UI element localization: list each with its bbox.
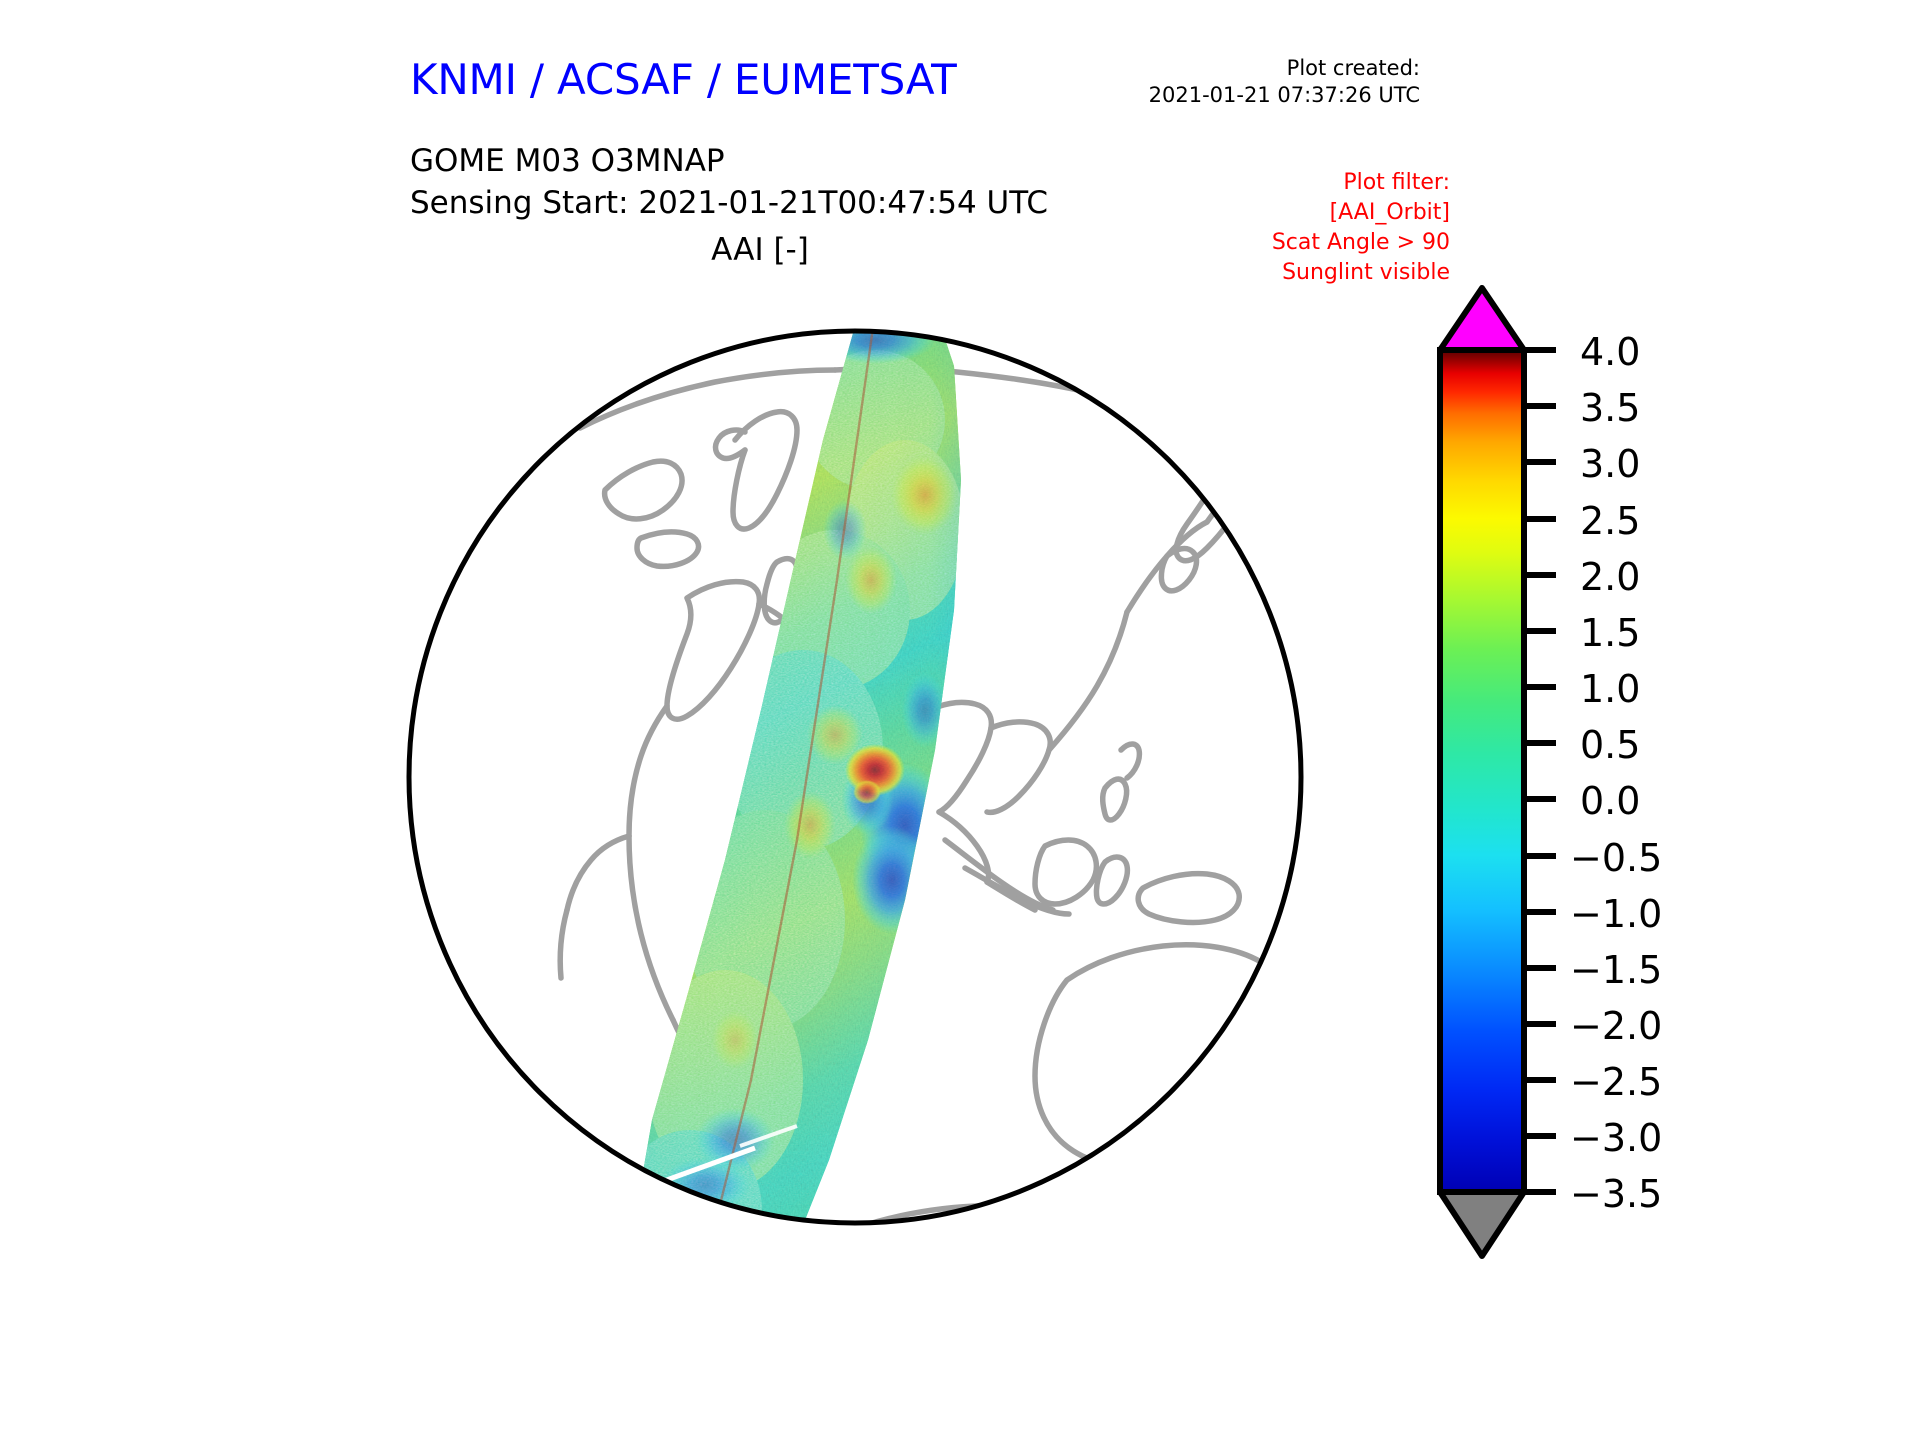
cb-label-15: −3.5 — [1570, 1172, 1662, 1216]
sensing-start: Sensing Start: 2021-01-21T00:47:54 UTC — [410, 182, 1048, 224]
colorbar-ticks — [1524, 350, 1556, 1192]
dataset-name: GOME M03 O3MNAP — [410, 140, 1048, 182]
plot-filter-block: Plot filter: [AAI_Orbit] Scat Angle > 90… — [1272, 168, 1450, 288]
cb-label-10: −1.0 — [1570, 892, 1662, 936]
cb-label-5: 1.5 — [1580, 611, 1640, 655]
plot-page: KNMI / ACSAF / EUMETSAT Plot created: 20… — [0, 0, 1920, 1440]
cb-label-14: −3.0 — [1570, 1116, 1662, 1160]
plot-created-label: Plot created: — [1149, 55, 1420, 82]
map-panel — [405, 280, 1305, 1280]
colorbar-over-arrow — [1440, 288, 1524, 350]
cb-label-6: 1.0 — [1580, 667, 1640, 711]
colorbar-panel: 4.0 3.5 3.0 2.5 2.0 1.5 1.0 0.5 0.0 −0.5… — [1430, 280, 1850, 1340]
plot-filter-name: [AAI_Orbit] — [1272, 198, 1450, 228]
cb-label-8: 0.0 — [1580, 779, 1640, 823]
globe-map — [405, 280, 1305, 1280]
colorbar-tick-labels: 4.0 3.5 3.0 2.5 2.0 1.5 1.0 0.5 0.0 −0.5… — [1570, 330, 1662, 1216]
colorbar-gradient — [1440, 350, 1524, 1192]
cb-label-13: −2.5 — [1570, 1060, 1662, 1104]
cb-label-11: −1.5 — [1570, 948, 1662, 992]
cb-label-4: 2.0 — [1580, 555, 1640, 599]
cb-label-2: 3.0 — [1580, 442, 1640, 486]
cb-label-0: 4.0 — [1580, 330, 1640, 374]
cb-label-9: −0.5 — [1570, 836, 1662, 880]
dataset-block: GOME M03 O3MNAP Sensing Start: 2021-01-2… — [410, 140, 1048, 224]
colorbar-under-arrow — [1440, 1192, 1524, 1256]
organisation-title: KNMI / ACSAF / EUMETSAT — [410, 55, 957, 104]
plot-created-block: Plot created: 2021-01-21 07:37:26 UTC — [1149, 55, 1420, 109]
plot-filter-scat-angle: Scat Angle > 90 — [1272, 228, 1450, 258]
variable-title: AAI [-] — [410, 232, 1110, 268]
cb-label-7: 0.5 — [1580, 723, 1640, 767]
cb-label-12: −2.0 — [1570, 1004, 1662, 1048]
plot-created-timestamp: 2021-01-21 07:37:26 UTC — [1149, 82, 1420, 109]
cb-label-1: 3.5 — [1580, 386, 1640, 430]
cb-label-3: 2.5 — [1580, 499, 1640, 543]
plot-filter-label: Plot filter: — [1272, 168, 1450, 198]
colorbar: 4.0 3.5 3.0 2.5 2.0 1.5 1.0 0.5 0.0 −0.5… — [1430, 280, 1850, 1340]
